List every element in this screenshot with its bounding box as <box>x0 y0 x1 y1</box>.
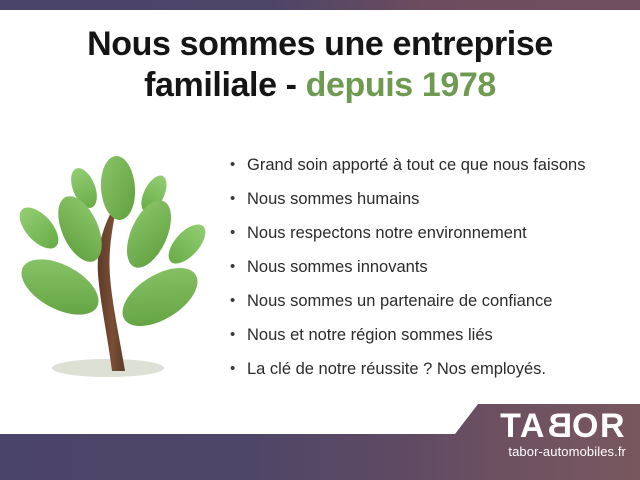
list-item-label: Nous sommes un partenaire de confiance <box>247 292 552 310</box>
bottom-brand-bar: TABOR tabor-automobiles.fr <box>0 400 640 480</box>
bullet-icon: • <box>230 216 235 250</box>
list-item-label: Nous sommes humains <box>247 190 419 208</box>
list-item: •Nous sommes un partenaire de confiance <box>228 284 628 318</box>
headline-line-2-black: familiale - <box>144 66 305 104</box>
list-item-label: Nous et notre région sommes liés <box>247 326 493 344</box>
list-item: •Nous sommes humains <box>228 182 628 216</box>
bullet-icon: • <box>230 148 235 182</box>
bullet-icon: • <box>230 352 235 386</box>
page-title: Nous sommes une entreprise familiale - d… <box>0 26 640 103</box>
tree-leaf <box>113 256 208 338</box>
list-item: •Grand soin apporté à tout ce que nous f… <box>228 148 628 182</box>
list-item: •Nous respectons notre environnement <box>228 216 628 250</box>
bullet-icon: • <box>230 182 235 216</box>
benefits-list: •Grand soin apporté à tout ce que nous f… <box>228 148 628 386</box>
top-accent-strip <box>0 0 640 10</box>
slide-root: Nous sommes une entreprise familiale - d… <box>0 0 640 480</box>
family-tree-illustration <box>12 152 212 387</box>
bullet-icon: • <box>230 284 235 318</box>
tree-leaf <box>13 201 66 256</box>
list-item: •Nous sommes innovants <box>228 250 628 284</box>
list-item: •La clé de notre réussite ? Nos employés… <box>228 352 628 386</box>
bullet-icon: • <box>230 318 235 352</box>
list-item: •Nous et notre région sommes liés <box>228 318 628 352</box>
headline-line-1: Nous sommes une entreprise <box>0 26 640 63</box>
list-item-label: Grand soin apporté à tout ce que nous fa… <box>247 156 585 174</box>
tree-shadow <box>52 359 164 377</box>
list-item-label: Nous respectons notre environnement <box>247 224 527 242</box>
list-item-label: Nous sommes innovants <box>247 258 428 276</box>
bottom-bar-shape <box>0 404 640 480</box>
tree-leaf <box>99 155 137 221</box>
headline-line-2: familiale - depuis 1978 <box>0 67 640 104</box>
bullet-icon: • <box>230 250 235 284</box>
headline-accent-since: depuis 1978 <box>306 66 496 104</box>
list-item-label: La clé de notre réussite ? Nos employés. <box>247 360 546 378</box>
tree-trunk <box>98 200 125 371</box>
